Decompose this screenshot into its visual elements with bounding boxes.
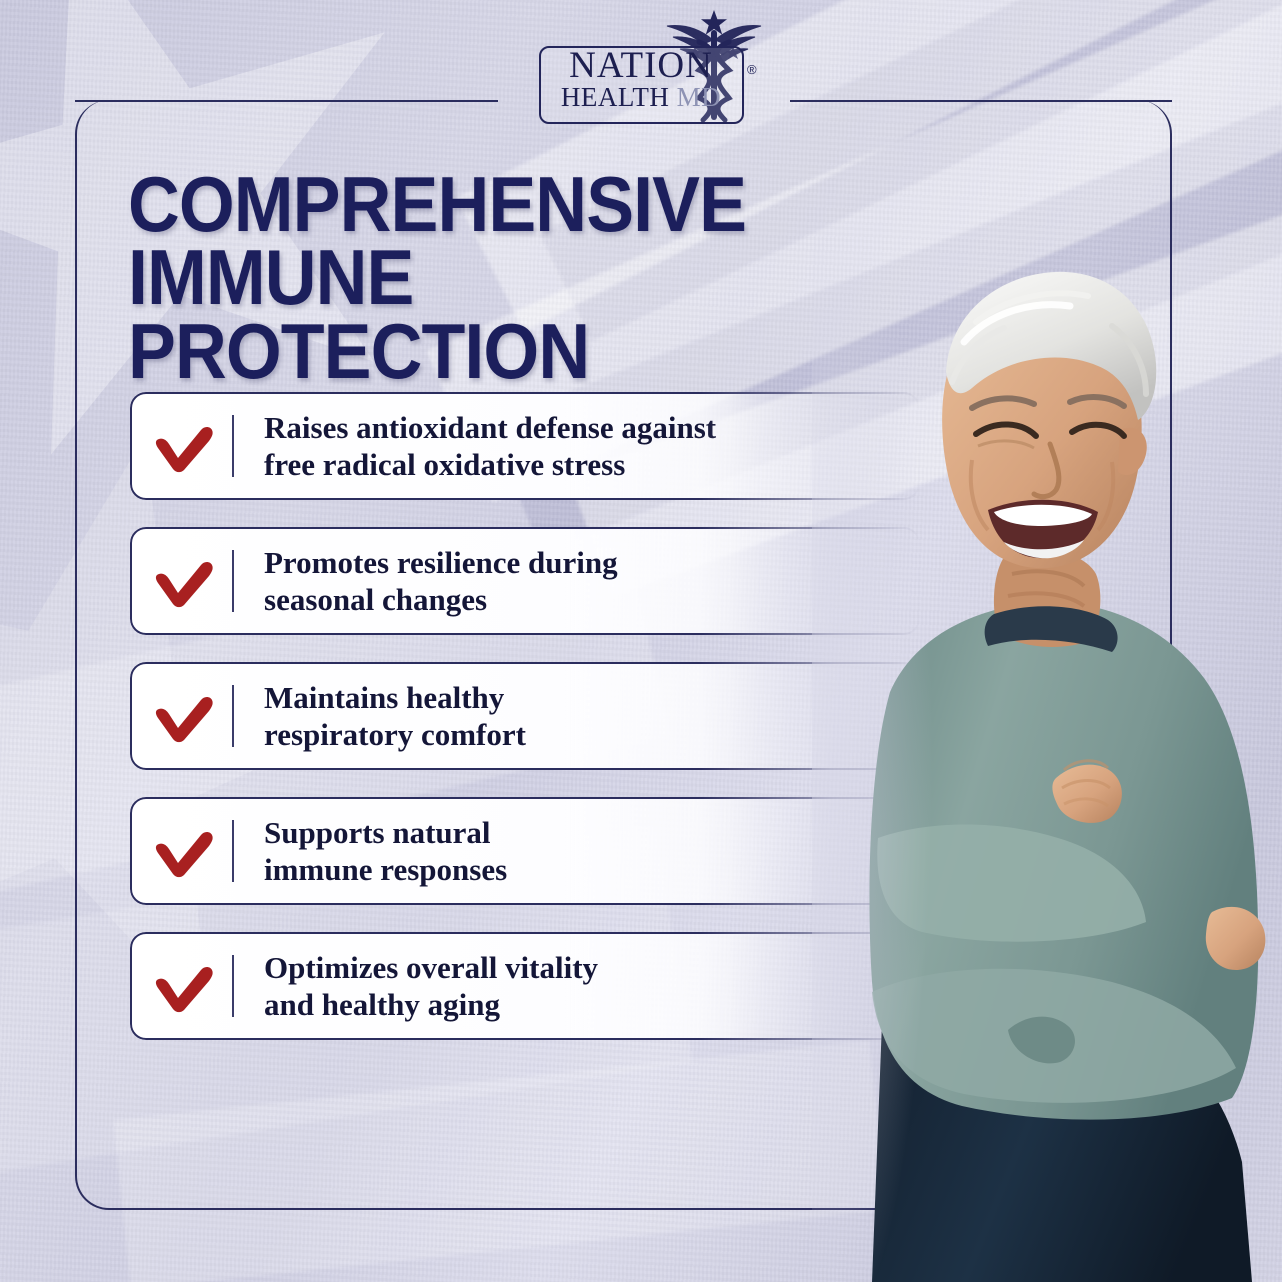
- benefit-card: Maintains healthy respiratory comfort: [130, 662, 920, 770]
- headline-line-2: IMMUNE PROTECTION: [128, 241, 864, 388]
- registered-trademark-icon: ®: [747, 62, 757, 77]
- benefit-card: Supports natural immune responses: [130, 797, 920, 905]
- logo-line-health-md: HEALTH MD: [551, 85, 731, 111]
- headline-line-1: COMPREHENSIVE: [128, 168, 864, 241]
- benefit-card: Promotes resilience during seasonal chan…: [130, 527, 920, 635]
- logo-line-nation: NATION: [551, 48, 731, 84]
- poster-canvas: NATION HEALTH MD ® COMPREHENSIVE IMMUNE …: [0, 0, 1282, 1282]
- frame-top-rule-left: [75, 100, 498, 102]
- check-mark-icon: [132, 823, 232, 879]
- benefit-text: Raises antioxidant defense against free …: [234, 409, 716, 483]
- brand-logo: NATION HEALTH MD ®: [491, 4, 791, 144]
- benefit-list: Raises antioxidant defense against free …: [130, 392, 920, 1067]
- benefit-text: Maintains healthy respiratory comfort: [234, 679, 526, 753]
- check-mark-icon: [132, 553, 232, 609]
- benefit-card: Optimizes overall vitality and healthy a…: [130, 932, 920, 1040]
- check-mark-icon: [132, 418, 232, 474]
- benefit-card: Raises antioxidant defense against free …: [130, 392, 920, 500]
- check-mark-icon: [132, 958, 232, 1014]
- logo-md-text: MD: [677, 82, 722, 112]
- benefit-text: Optimizes overall vitality and healthy a…: [234, 949, 598, 1023]
- logo-wordmark: NATION HEALTH MD: [551, 48, 731, 110]
- check-mark-icon: [132, 688, 232, 744]
- logo-health-text: HEALTH: [561, 82, 677, 112]
- frame-top-rule-right: [790, 100, 1172, 102]
- model-photo: [812, 222, 1282, 1282]
- benefit-text: Promotes resilience during seasonal chan…: [234, 544, 618, 618]
- page-title: COMPREHENSIVE IMMUNE PROTECTION: [128, 168, 864, 388]
- benefit-text: Supports natural immune responses: [234, 814, 507, 888]
